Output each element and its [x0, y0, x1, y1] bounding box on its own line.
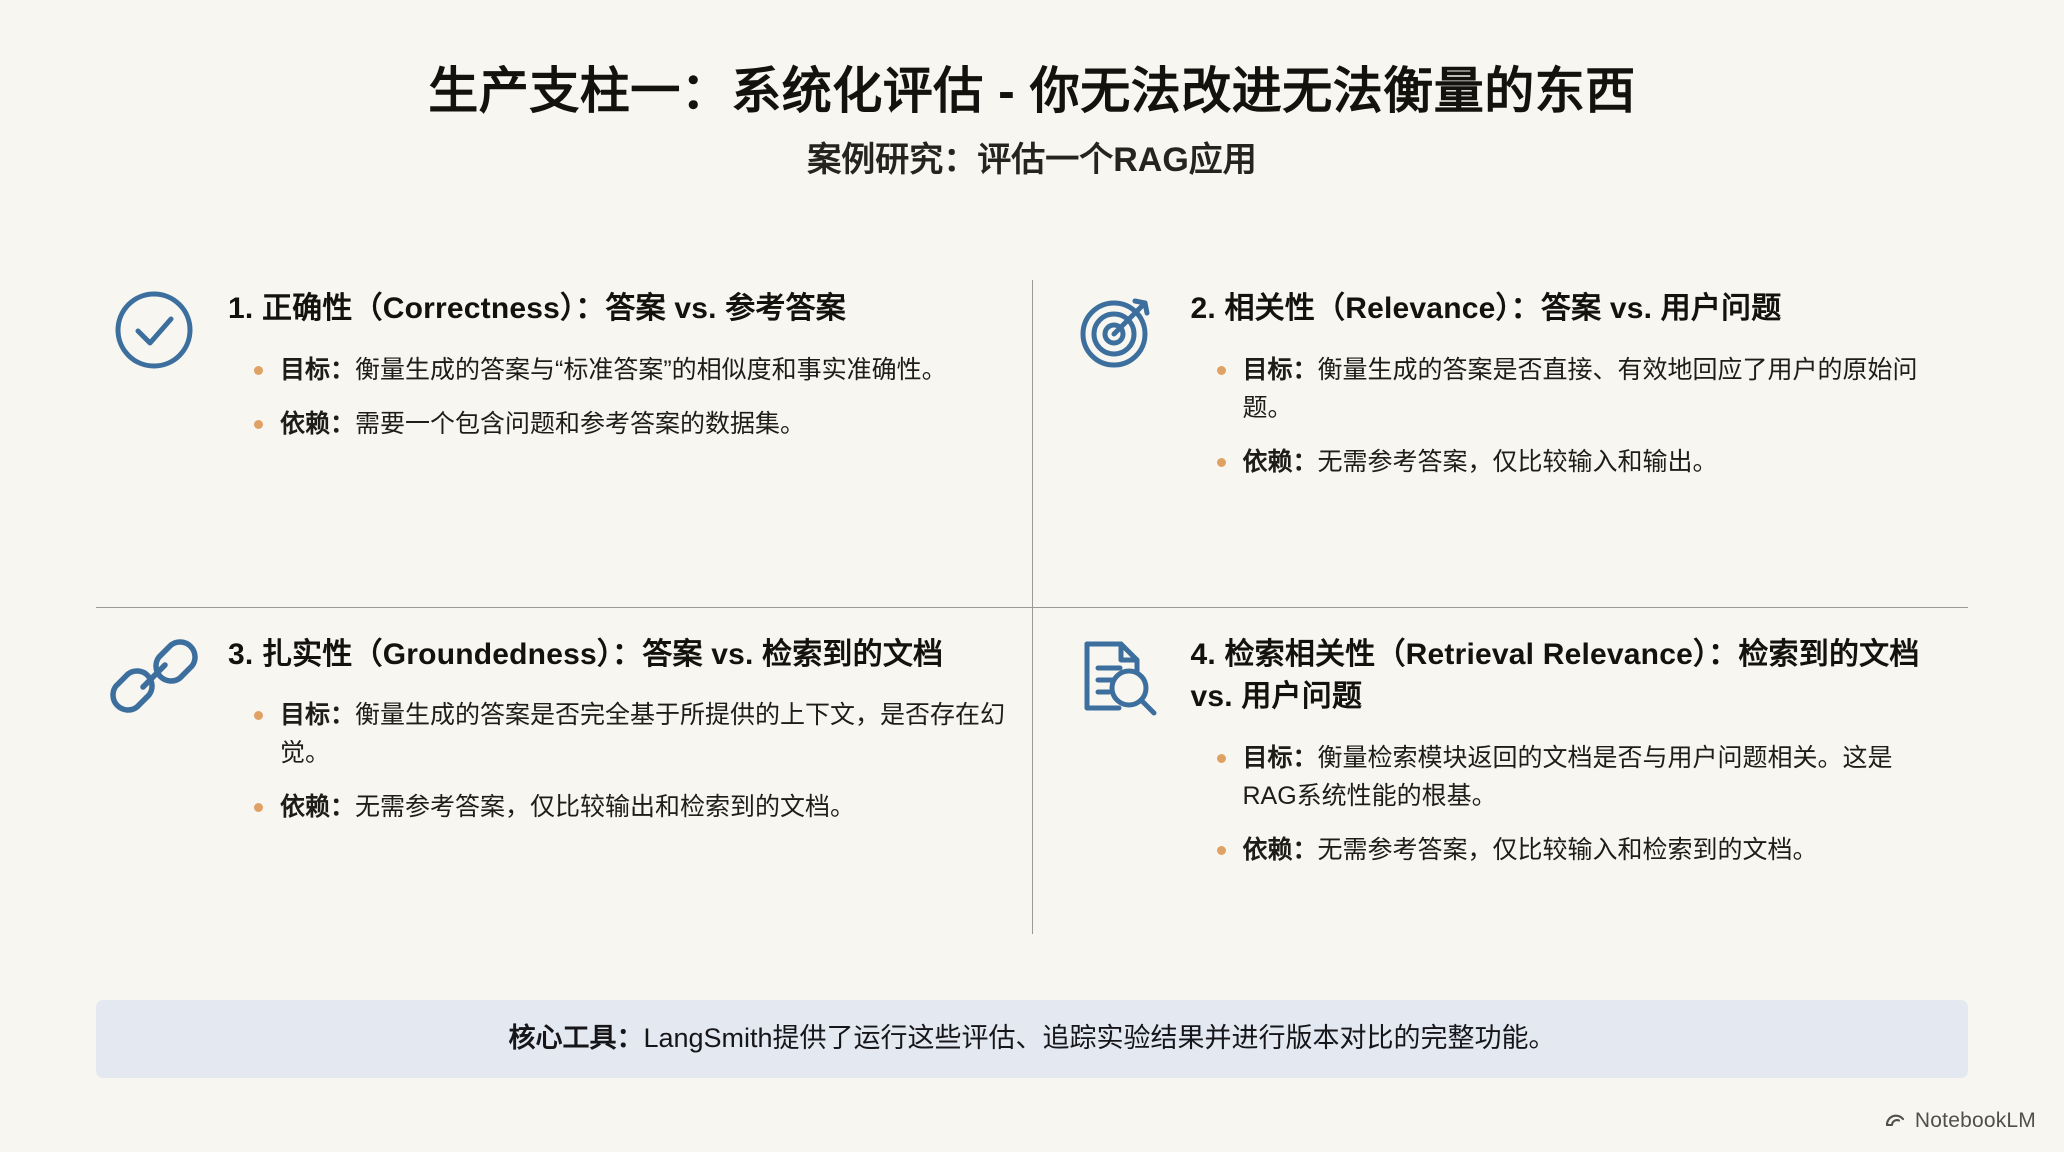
list-item: 依赖：需要一个包含问题和参考答案的数据集。 [254, 405, 1006, 443]
bullet-text: 衡量生成的答案是否完全基于所提供的上下文，是否存在幻觉。 [280, 701, 1005, 767]
slide-header: 生产支柱一：系统化评估 - 你无法改进无法衡量的东西 案例研究：评估一个RAG应… [0, 0, 2064, 181]
quadrant-heading: 4. 检索相关性（Retrieval Relevance）：检索到的文档 vs.… [1191, 634, 1943, 719]
quadrant-bullet-list: 目标：衡量生成的答案是否直接、有效地回应了用户的原始问题。 依赖：无需参考答案，… [1191, 351, 1943, 481]
quadrant-heading: 3. 扎实性（Groundedness）：答案 vs. 检索到的文档 [228, 634, 1006, 677]
bullet-label: 依赖： [280, 793, 355, 821]
list-item: 目标：衡量生成的答案是否直接、有效地回应了用户的原始问题。 [1217, 351, 1943, 427]
list-item: 目标：衡量生成的答案与“标准答案”的相似度和事实准确性。 [254, 351, 1006, 389]
bullet-label: 依赖： [280, 410, 355, 438]
quadrant-heading: 2. 相关性（Relevance）：答案 vs. 用户问题 [1191, 288, 1943, 331]
banner-body: LangSmith提供了运行这些评估、追踪实验结果并进行版本对比的完整功能。 [643, 1023, 1555, 1053]
bullet-text: 无需参考答案，仅比较输入和检索到的文档。 [1318, 836, 1818, 864]
quadrant-bullet-list: 目标：衡量生成的答案是否完全基于所提供的上下文，是否存在幻觉。 依赖：无需参考答… [228, 696, 1006, 826]
quadrant-grid: 1. 正确性（Correctness）：答案 vs. 参考答案 目标：衡量生成的… [96, 262, 1968, 952]
core-tool-banner: 核心工具：LangSmith提供了运行这些评估、追踪实验结果并进行版本对比的完整… [96, 1000, 1968, 1078]
quadrant-body: 2. 相关性（Relevance）：答案 vs. 用户问题 目标：衡量生成的答案… [1191, 280, 1943, 481]
quadrant-body: 4. 检索相关性（Retrieval Relevance）：检索到的文档 vs.… [1191, 626, 1943, 869]
bullet-text: 需要一个包含问题和参考答案的数据集。 [355, 410, 805, 438]
check-circle-icon [106, 282, 202, 378]
notebooklm-watermark: NotebookLM [1884, 1107, 2036, 1134]
bullet-text: 无需参考答案，仅比较输入和输出。 [1318, 448, 1718, 476]
slide-root: 生产支柱一：系统化评估 - 你无法改进无法衡量的东西 案例研究：评估一个RAG应… [0, 0, 2064, 1152]
link-icon [106, 628, 202, 724]
list-item: 依赖：无需参考答案，仅比较输入和输出。 [1217, 443, 1943, 481]
quadrant-body: 1. 正确性（Correctness）：答案 vs. 参考答案 目标：衡量生成的… [228, 280, 1006, 443]
target-icon [1069, 282, 1165, 378]
list-item: 目标：衡量检索模块返回的文档是否与用户问题相关。这是RAG系统性能的根基。 [1217, 739, 1943, 815]
quadrant-groundedness: 3. 扎实性（Groundedness）：答案 vs. 检索到的文档 目标：衡量… [96, 608, 1032, 953]
page-title: 生产支柱一：系统化评估 - 你无法改进无法衡量的东西 [0, 62, 2064, 120]
banner-text: 核心工具：LangSmith提供了运行这些评估、追踪实验结果并进行版本对比的完整… [508, 1021, 1555, 1056]
quadrant-heading: 1. 正确性（Correctness）：答案 vs. 参考答案 [228, 288, 1006, 331]
notebooklm-logo-icon [1884, 1107, 1906, 1134]
bullet-label: 依赖： [1243, 836, 1318, 864]
quadrant-body: 3. 扎实性（Groundedness）：答案 vs. 检索到的文档 目标：衡量… [228, 626, 1006, 827]
quadrant-correctness: 1. 正确性（Correctness）：答案 vs. 参考答案 目标：衡量生成的… [96, 262, 1032, 607]
bullet-label: 目标： [1243, 744, 1318, 772]
bullet-label: 目标： [280, 701, 355, 729]
quadrant-retrieval-relevance: 4. 检索相关性（Retrieval Relevance）：检索到的文档 vs.… [1033, 608, 1969, 953]
document-search-icon [1069, 628, 1165, 724]
bullet-text: 衡量生成的答案是否直接、有效地回应了用户的原始问题。 [1243, 356, 1918, 422]
quadrant-bullet-list: 目标：衡量生成的答案与“标准答案”的相似度和事实准确性。 依赖：需要一个包含问题… [228, 351, 1006, 443]
page-subtitle: 案例研究：评估一个RAG应用 [0, 140, 2064, 181]
bullet-label: 目标： [1243, 356, 1318, 384]
bullet-text: 衡量检索模块返回的文档是否与用户问题相关。这是RAG系统性能的根基。 [1243, 744, 1893, 810]
bullet-text: 无需参考答案，仅比较输出和检索到的文档。 [355, 793, 855, 821]
list-item: 依赖：无需参考答案，仅比较输入和检索到的文档。 [1217, 831, 1943, 869]
quadrant-bullet-list: 目标：衡量检索模块返回的文档是否与用户问题相关。这是RAG系统性能的根基。 依赖… [1191, 739, 1943, 869]
list-item: 依赖：无需参考答案，仅比较输出和检索到的文档。 [254, 788, 1006, 826]
watermark-label: NotebookLM [1915, 1109, 2036, 1133]
quadrant-relevance: 2. 相关性（Relevance）：答案 vs. 用户问题 目标：衡量生成的答案… [1033, 262, 1969, 607]
bullet-label: 目标： [280, 356, 355, 384]
banner-label: 核心工具： [508, 1023, 643, 1053]
list-item: 目标：衡量生成的答案是否完全基于所提供的上下文，是否存在幻觉。 [254, 696, 1006, 772]
bullet-label: 依赖： [1243, 448, 1318, 476]
bullet-text: 衡量生成的答案与“标准答案”的相似度和事实准确性。 [355, 356, 947, 384]
